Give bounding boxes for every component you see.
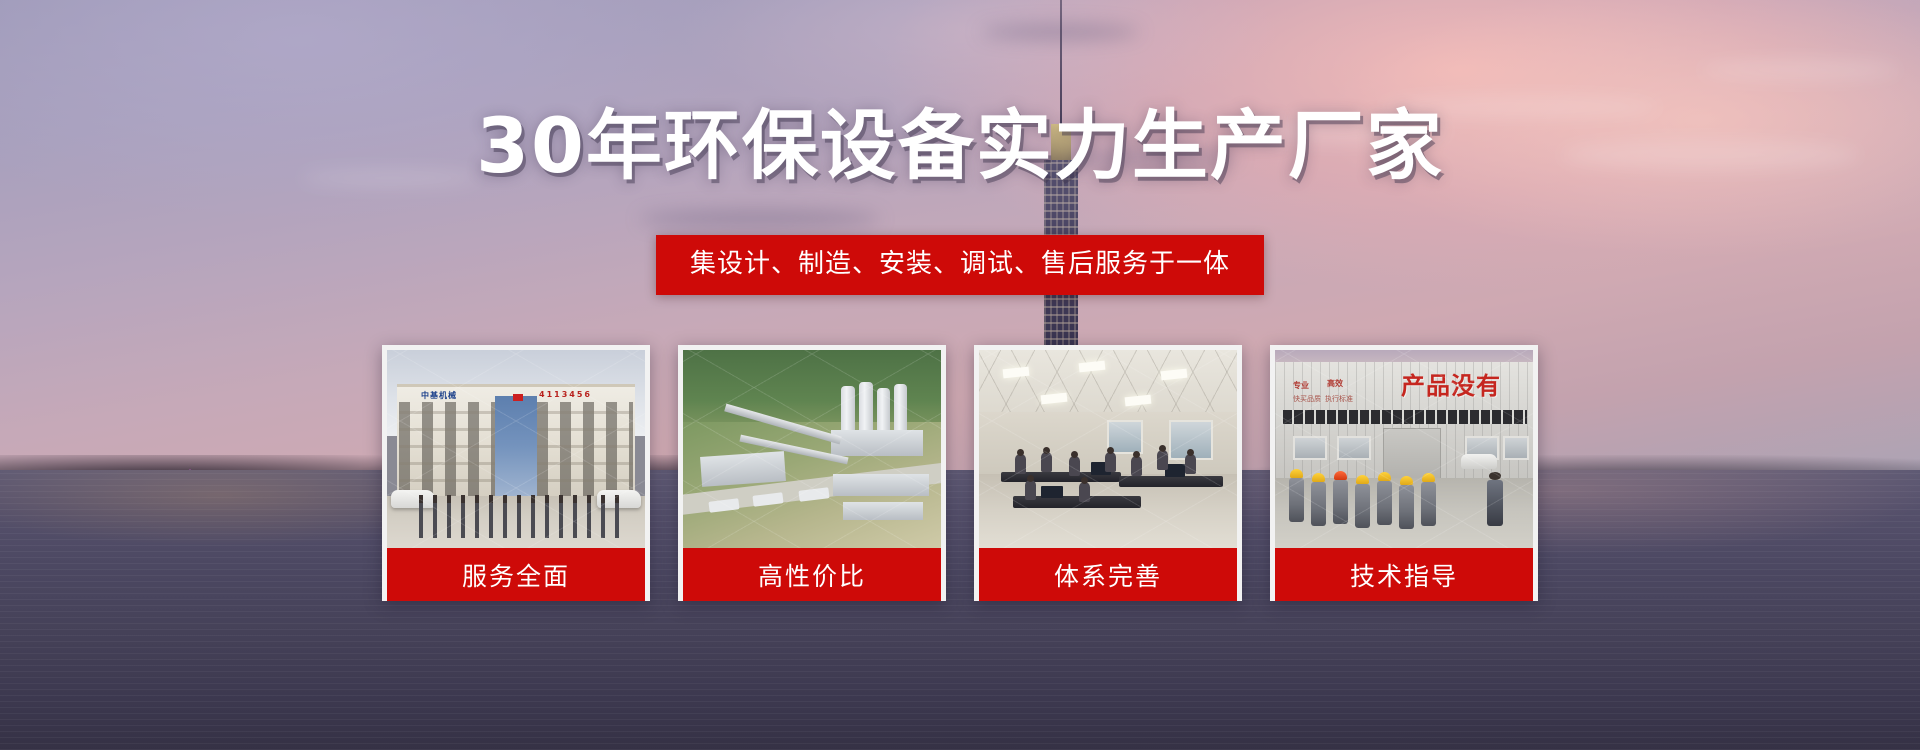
feature-card-guidance[interactable]: 产品没有 专业 高效 快买品质 执行标准 — [1270, 345, 1538, 601]
card-label: 高性价比 — [683, 548, 941, 601]
feature-card-value[interactable]: 高性价比 — [678, 345, 946, 601]
feature-card-service[interactable]: 中基机械 4113456 服务全面 — [382, 345, 650, 601]
factory-slogan-4: 执行标准 — [1325, 394, 1353, 404]
hero-banner: 30年环保设备实力生产厂家 集设计、制造、安装、调试、售后服务于一体 中基机械 … — [0, 0, 1920, 750]
banner-content: 30年环保设备实力生产厂家 集设计、制造、安装、调试、售后服务于一体 中基机械 … — [0, 0, 1920, 750]
card-label: 技术指导 — [1275, 548, 1533, 601]
card-photo-office-interior — [979, 350, 1237, 548]
card-label: 服务全面 — [387, 548, 645, 601]
card-photo-aerial-plant — [683, 350, 941, 548]
building-phone-number: 4113456 — [539, 390, 592, 399]
subtitle-banner: 集设计、制造、安装、调试、售后服务于一体 — [656, 235, 1264, 295]
page-title: 30年环保设备实力生产厂家 — [0, 108, 1920, 184]
factory-slogan-1: 专业 — [1293, 380, 1309, 391]
factory-slogan-2: 高效 — [1327, 378, 1343, 389]
card-photo-office-building: 中基机械 4113456 — [387, 350, 645, 548]
card-label: 体系完善 — [979, 548, 1237, 601]
feature-card-system[interactable]: 体系完善 — [974, 345, 1242, 601]
building-signage: 中基机械 — [421, 390, 457, 401]
feature-card-row: 中基机械 4113456 服务全面 — [382, 345, 1538, 601]
factory-signage: 产品没有 — [1401, 366, 1501, 401]
factory-slogan-3: 快买品质 — [1293, 394, 1321, 404]
card-photo-factory-workers: 产品没有 专业 高效 快买品质 执行标准 — [1275, 350, 1533, 548]
